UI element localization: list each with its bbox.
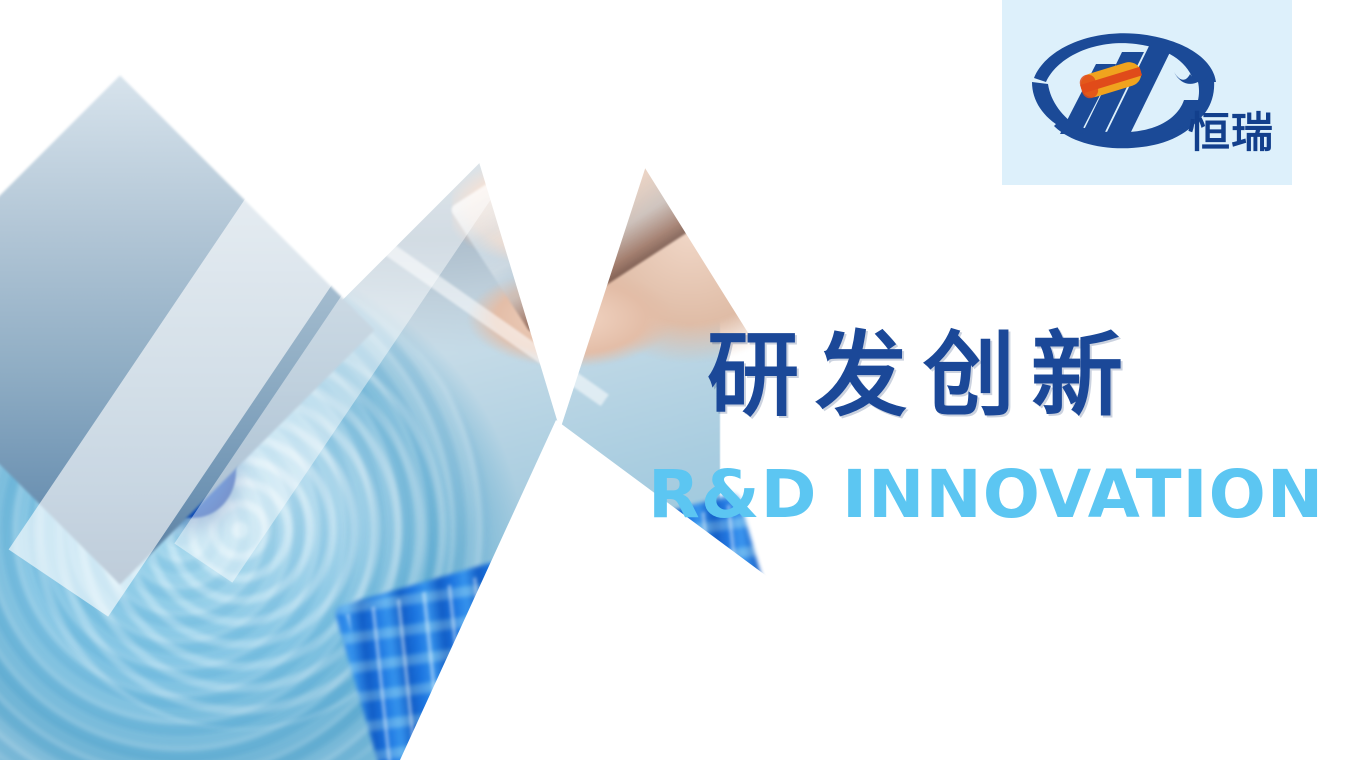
hengrui-logo-mark: 恒瑞 (1018, 30, 1276, 156)
headline-chinese: 研发创新 (707, 327, 1139, 425)
company-logo-box[interactable]: 恒瑞 (1002, 0, 1292, 185)
logo-brand-text: 恒瑞 (1188, 112, 1274, 154)
headline-english: R&D INNOVATION (648, 462, 1324, 528)
rd-innovation-banner: 恒瑞 研发创新 R&D INNOVATION (0, 0, 1350, 760)
